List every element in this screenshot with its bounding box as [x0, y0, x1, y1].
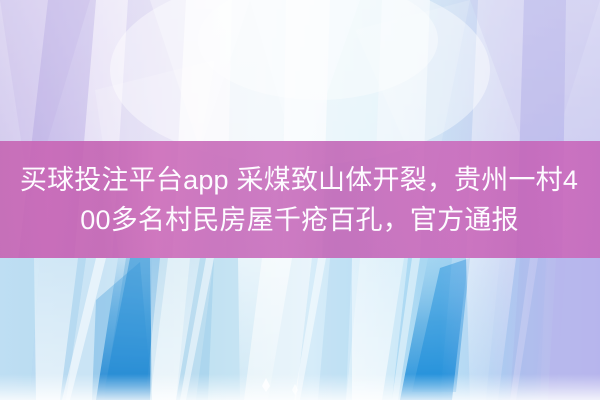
- headline-line-1: 买球投注平台app 采煤致山体开裂，贵州一村4: [20, 160, 578, 200]
- headline-band: 买球投注平台app 采煤致山体开裂，贵州一村4 00多名村民房屋千疮百孔，官方通…: [0, 141, 600, 258]
- news-banner: 买球投注平台app 采煤致山体开裂，贵州一村4 00多名村民房屋千疮百孔，官方通…: [0, 0, 600, 400]
- background-bottom-half: [0, 258, 600, 400]
- headline-line-2: 00多名村民房屋千疮百孔，官方通报: [80, 200, 518, 240]
